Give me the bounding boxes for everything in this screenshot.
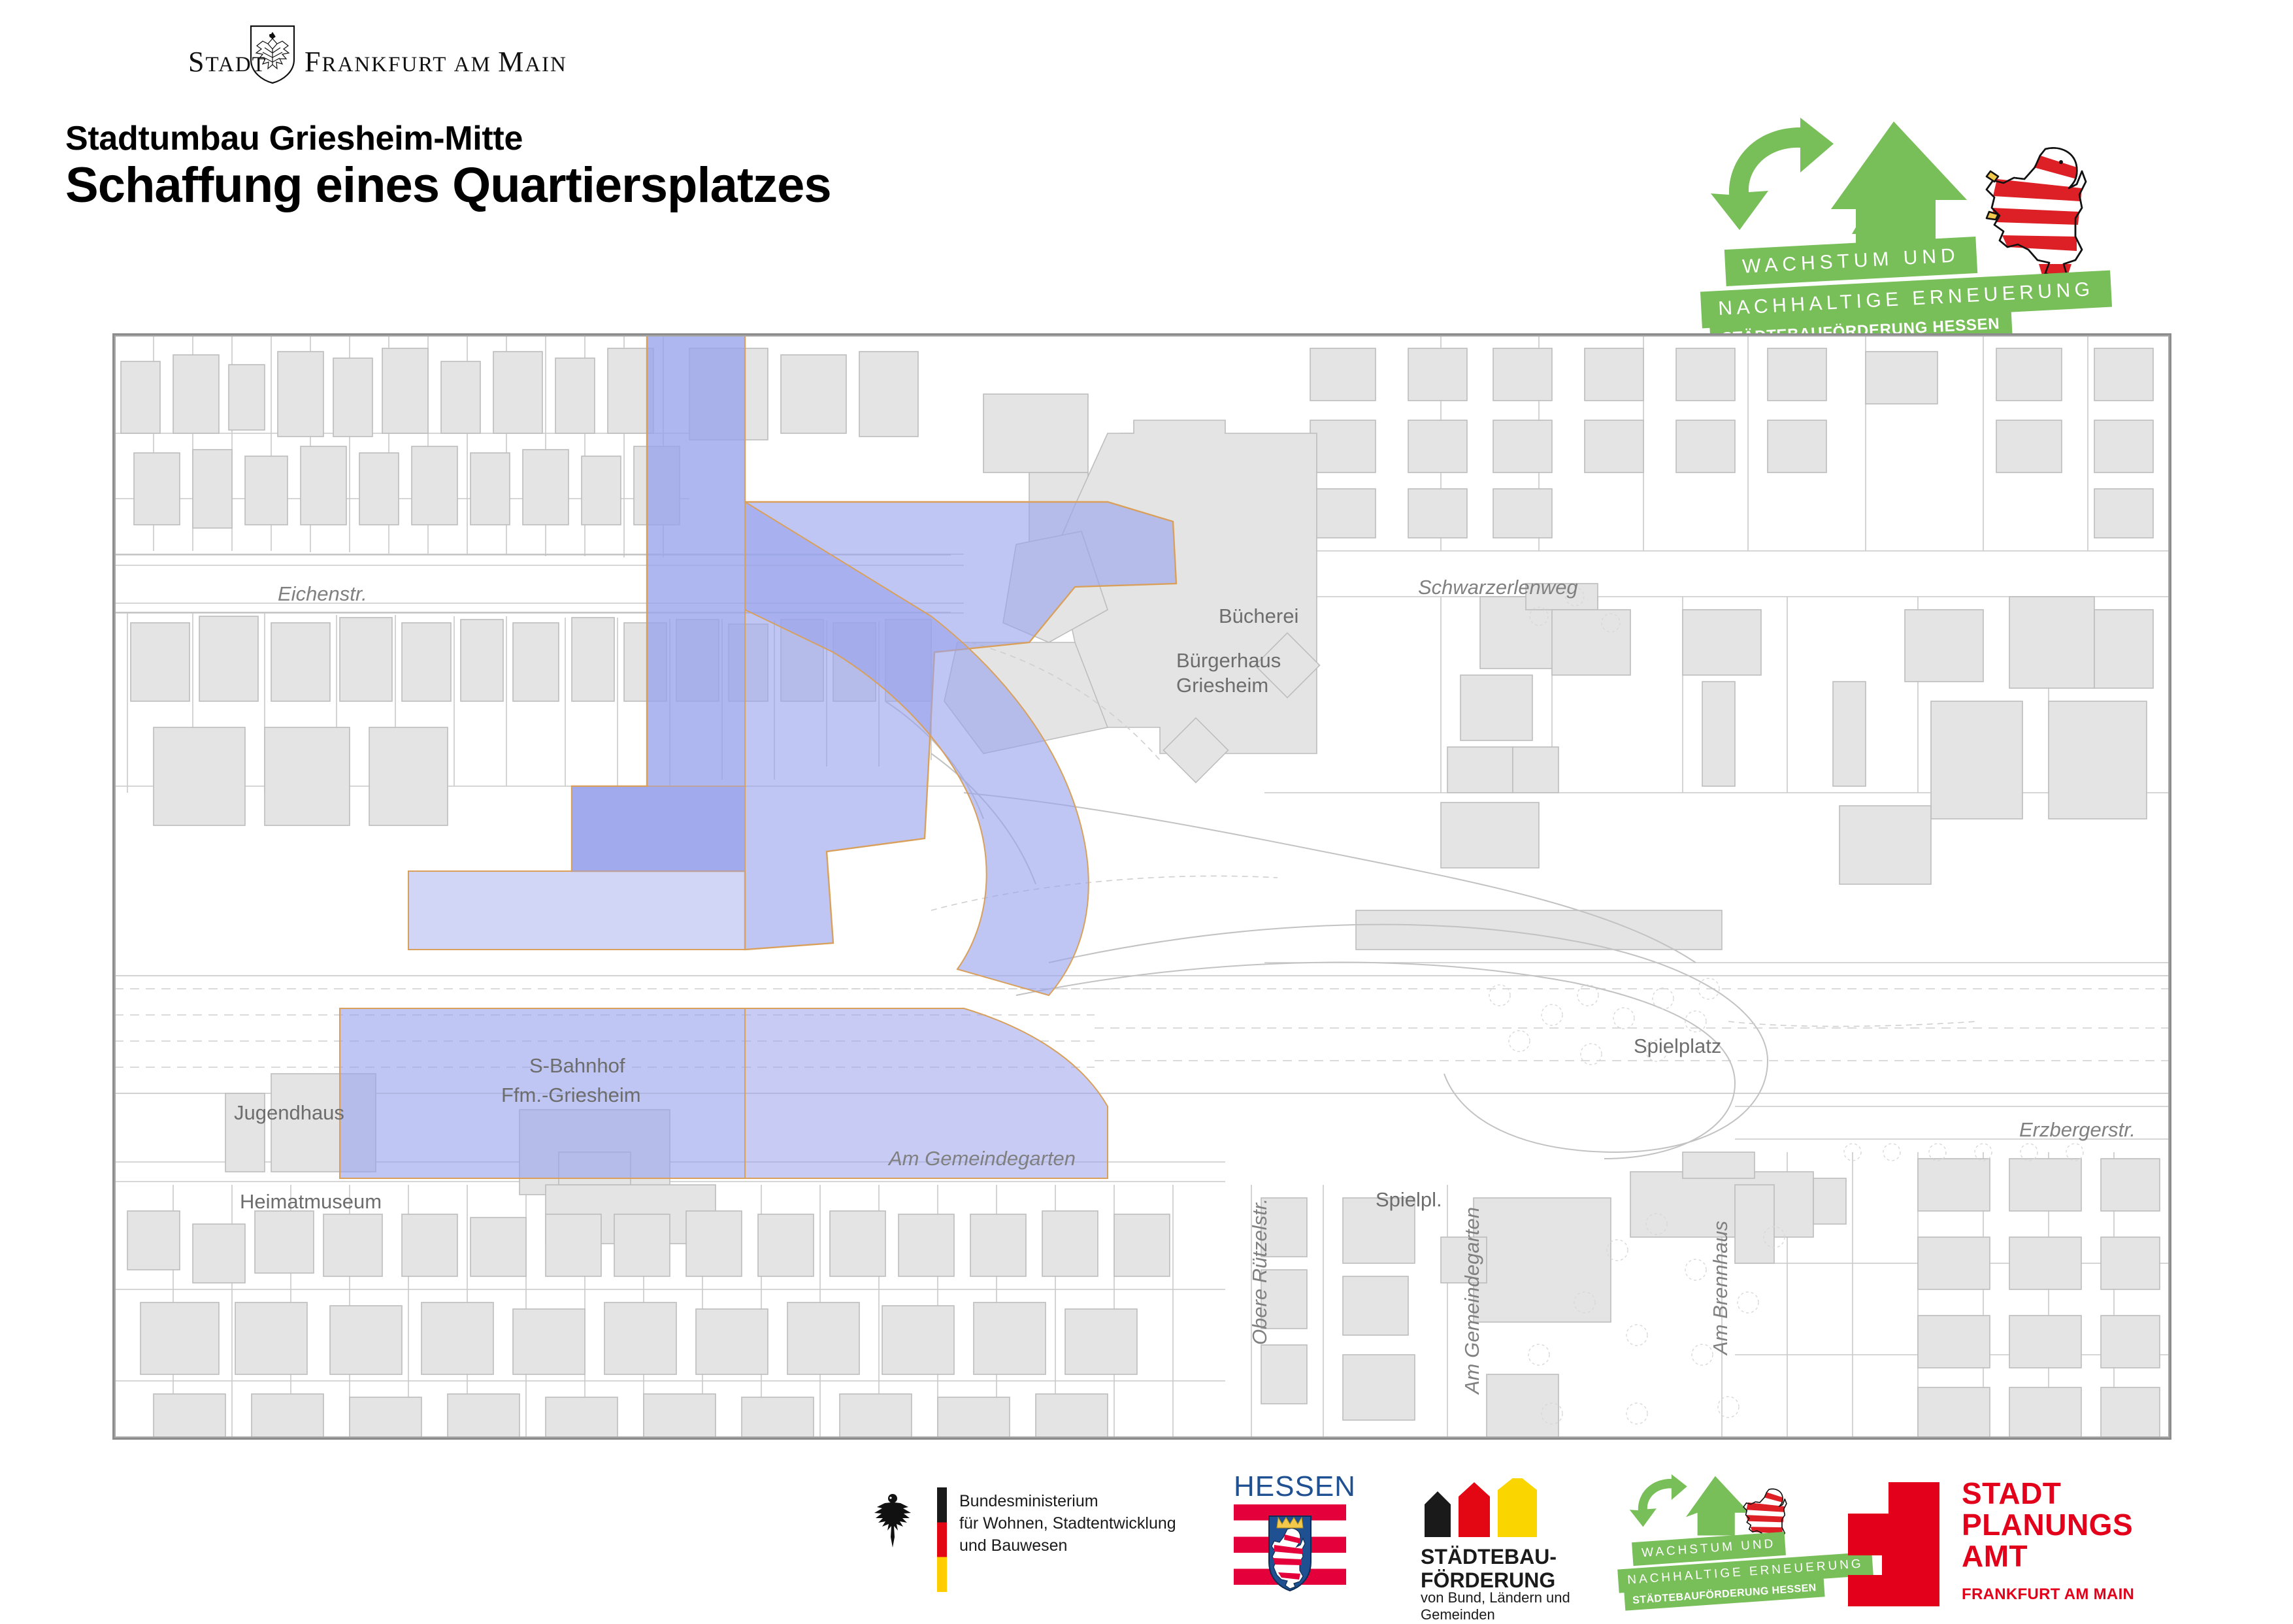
poi-label-jugendhaus: Jugendhaus: [234, 1101, 344, 1125]
page-footer: Bundesministerium für Wohnen, Stadtentwi…: [0, 1464, 2293, 1621]
bmwsb-logo: Bundesministerium für Wohnen, Stadtentwi…: [869, 1464, 1209, 1621]
three-houses-icon: [1421, 1478, 1549, 1537]
street-label-obere-ruetzelstr: Obere Rützelstr.: [1248, 1198, 1272, 1345]
city-of-frankfurt-logo: STADT FRANKFURT AM MAIN: [97, 36, 515, 82]
bundesadler-icon: [869, 1491, 916, 1548]
poi-label-heimatmuseum: Heimatmuseum: [240, 1190, 382, 1214]
poi-label-spielpl: Spielpl.: [1376, 1188, 1442, 1212]
page-title: Schaffung eines Quartiersplatzes: [65, 157, 831, 214]
street-label-erzbergerstr: Erzbergerstr.: [2019, 1118, 2136, 1142]
map-canvas: [114, 335, 2169, 1438]
stadtplanungsamt-wordmark: STADT PLANUNGS AMT: [1962, 1478, 2133, 1572]
city-logo-word-stadt: STADT: [188, 45, 267, 78]
city-logo-word-frankfurt: FRANKFURT AM MAIN: [305, 45, 567, 78]
cadastral-map[interactable]: Eichenstr. Schwarzerlenweg Am Gemeindega…: [112, 333, 2171, 1440]
page-header: STADT FRANKFURT AM MAIN Stadtumbau Gries…: [0, 0, 2293, 327]
poi-label-spielplatz: Spielplatz: [1634, 1035, 1721, 1058]
hessen-lion-shield-icon: [1268, 1515, 1312, 1592]
wachstum-und-nachhaltige-erneuerung-footer-logo: WACHSTUM UND NACHHALTIGE ERNEUERUNG STÄD…: [1608, 1464, 1817, 1621]
street-label-am-gemeindegarten: Am Gemeindegarten: [889, 1147, 1076, 1170]
hessen-wordmark: HESSEN: [1234, 1470, 1356, 1503]
staedtebaufoerderung-title: STÄDTEBAU- FÖRDERUNG: [1421, 1545, 1557, 1593]
stadtplanungsamt-logo: STADT PLANUNGS AMT FRANKFURT AM MAIN: [1836, 1464, 2202, 1621]
page-subtitle: Stadtumbau Griesheim-Mitte: [65, 119, 523, 158]
hessen-state-logo: HESSEN: [1222, 1464, 1372, 1621]
poi-label-s-bahnhof: S-Bahnhof: [529, 1054, 625, 1078]
poi-label-buergerhaus: Bürgerhaus: [1176, 649, 1281, 672]
poi-label-ffm-griesheim: Ffm.-Griesheim: [501, 1084, 641, 1107]
poi-label-griesheim: Griesheim: [1176, 674, 1268, 697]
street-label-schwarzerlenweg: Schwarzerlenweg: [1418, 576, 1578, 599]
street-label-am-gemeindegarten-vertical: Am Gemeindegarten: [1460, 1207, 1484, 1394]
street-label-eichenstr: Eichenstr.: [278, 582, 367, 606]
staedtebaufoerderung-subtitle: von Bund, Ländern und Gemeinden: [1421, 1589, 1570, 1624]
stadtplanungsamt-block-icon: [1848, 1482, 1939, 1606]
hessen-lion-icon: [1977, 139, 2095, 289]
bmwsb-text: Bundesministerium für Wohnen, Stadtentwi…: [959, 1490, 1176, 1557]
poi-label-buecherei: Bücherei: [1219, 605, 1298, 628]
staedtebaufoerderung-logo: STÄDTEBAU- FÖRDERUNG von Bund, Ländern u…: [1411, 1464, 1601, 1621]
german-flag-bar-icon: [937, 1487, 947, 1592]
street-label-am-brennhaus: Am Brennhaus: [1709, 1221, 1732, 1355]
stadtplanungsamt-subline: FRANKFURT AM MAIN: [1962, 1585, 2134, 1604]
